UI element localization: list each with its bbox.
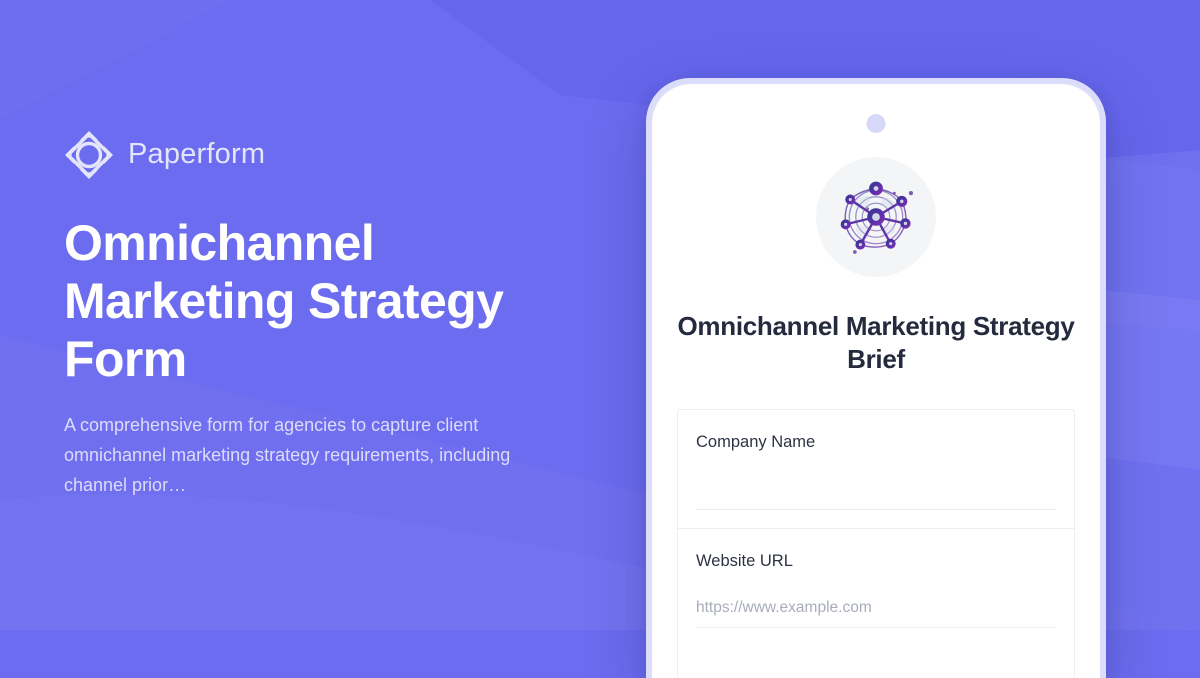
page-title: Omnichannel Marketing Strategy Form <box>64 214 544 388</box>
brand-wordmark: Paperform <box>128 140 265 169</box>
field-label-company-name: Company Name <box>696 432 1056 453</box>
form-card: Company Name Website URL <box>677 409 1075 678</box>
field-website-url: Website URL <box>678 529 1074 647</box>
phone-screen: Omnichannel Marketing Strategy Brief Com… <box>652 84 1100 678</box>
field-spacer <box>696 628 1056 646</box>
avatar <box>816 157 936 277</box>
page-description: A comprehensive form for agencies to cap… <box>64 410 534 501</box>
phone-mockup: Omnichannel Marketing Strategy Brief Com… <box>646 78 1106 678</box>
brand-lockup: Paperform <box>64 130 584 180</box>
field-input-wrap-company-name[interactable] <box>696 479 1056 509</box>
field-label-website-url: Website URL <box>696 551 1056 572</box>
field-input-wrap-website-url[interactable] <box>696 598 1056 628</box>
field-spacer <box>696 510 1056 528</box>
camera-dot-icon <box>867 114 886 133</box>
website-url-input[interactable] <box>696 598 1056 618</box>
promo-column: Paperform Omnichannel Marketing Strategy… <box>64 0 584 630</box>
form-title: Omnichannel Marketing Strategy Brief <box>676 310 1076 377</box>
field-company-name: Company Name <box>678 410 1074 529</box>
company-name-input[interactable] <box>696 479 1056 499</box>
paperform-starburst-icon <box>64 130 114 180</box>
network-hub-icon <box>830 171 922 263</box>
